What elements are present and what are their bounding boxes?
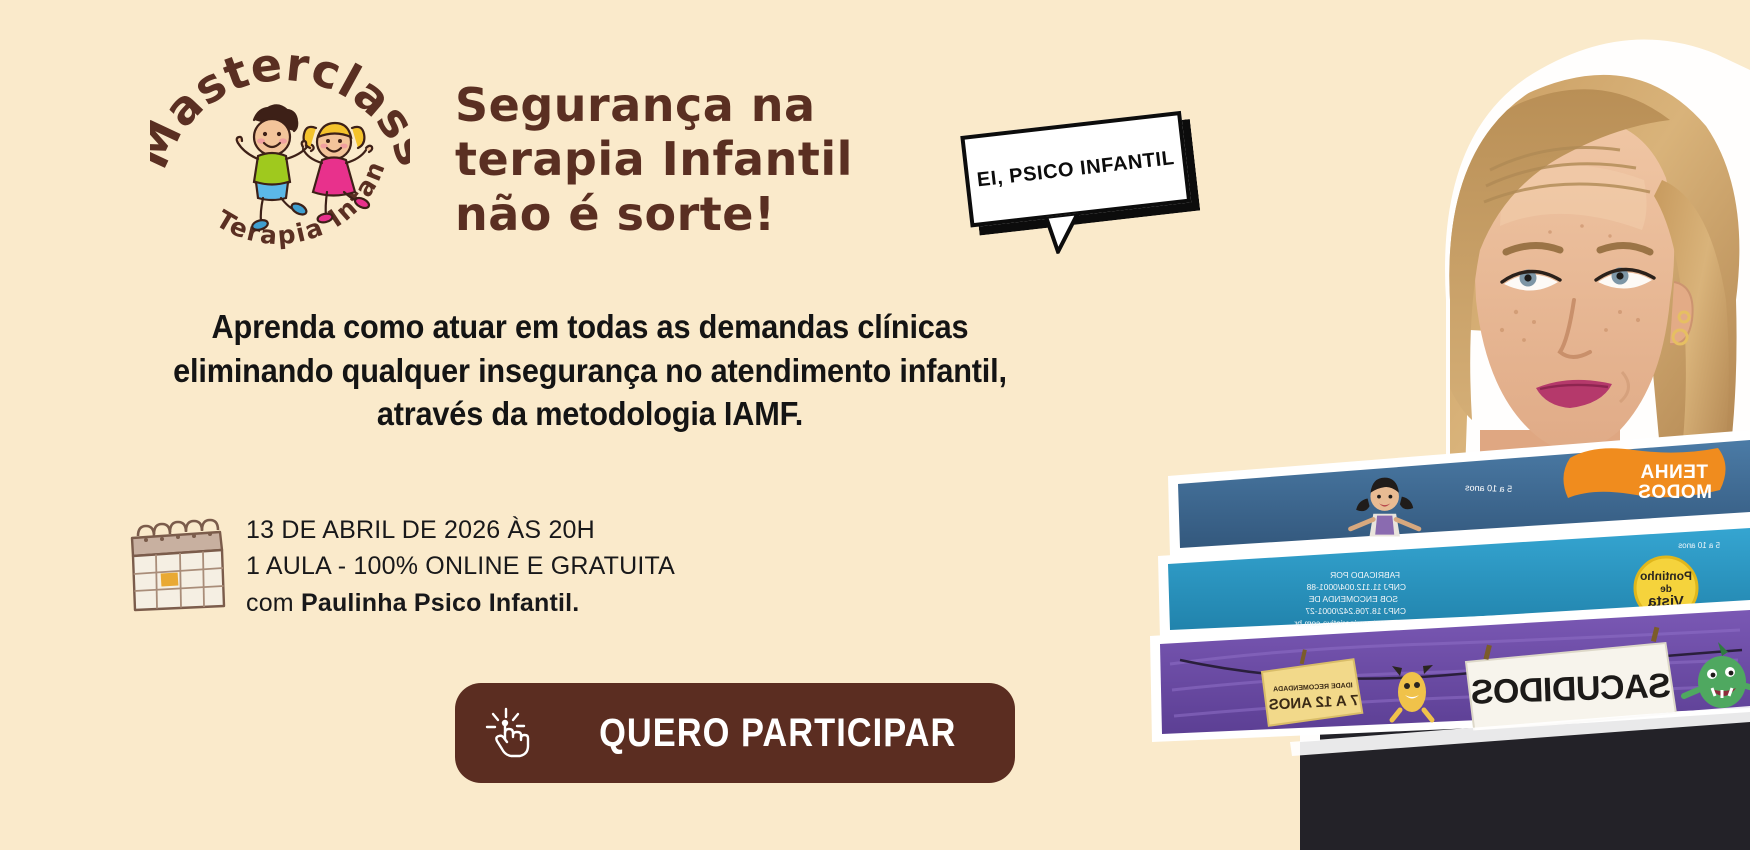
event-format: 1 AULA - 100% ONLINE E GRATUITA bbox=[246, 548, 675, 584]
event-host: com Paulinha Psico Infantil. bbox=[246, 585, 675, 621]
click-hand-icon bbox=[484, 705, 536, 761]
svg-text:CNPJ 11.112.004/0001-88: CNPJ 11.112.004/0001-88 bbox=[1306, 582, 1406, 592]
svg-text:5 a 10 anos: 5 a 10 anos bbox=[1464, 482, 1512, 494]
speech-bubble-text: EI, PSICO INFANTIL bbox=[976, 147, 1176, 192]
svg-text:SACUDIDOS: SACUDIDOS bbox=[1471, 667, 1672, 712]
photo-artwork: TENHA MODOS 5 a 10 anos FABRICADO POR bbox=[1150, 0, 1750, 850]
calendar-icon bbox=[120, 518, 228, 614]
svg-text:Pontinho: Pontinho bbox=[1640, 569, 1692, 583]
quero-participar-button[interactable]: QUERO PARTICIPAR bbox=[455, 683, 1015, 783]
event-host-name: Paulinha Psico Infantil. bbox=[301, 589, 579, 617]
event-details-text: 13 DE ABRIL DE 2026 ÀS 20H 1 AULA - 100%… bbox=[246, 512, 675, 621]
svg-text:SOB ENCOMENDA DE: SOB ENCOMENDA DE bbox=[1308, 594, 1398, 604]
headline-line-2: terapia Infantil bbox=[455, 132, 875, 186]
logo-artwork: Masterclass Terapia Infantil bbox=[150, 42, 410, 257]
event-date: 13 DE ABRIL DE 2026 ÀS 20H bbox=[246, 512, 675, 548]
svg-text:Vista: Vista bbox=[1648, 593, 1684, 610]
svg-text:www.terapiacriativa.com.br: www.terapiacriativa.com.br bbox=[1294, 618, 1397, 628]
cta-label: QUERO PARTICIPAR bbox=[599, 711, 956, 756]
paulinha-psico-infantil-photo: TENHA MODOS 5 a 10 anos FABRICADO POR bbox=[1150, 0, 1750, 850]
speech-bubble-tail bbox=[1044, 213, 1088, 255]
logo-boy bbox=[237, 105, 314, 231]
svg-text:7 A 12 ANOS: 7 A 12 ANOS bbox=[1268, 692, 1359, 714]
headline-line-1: Segurança na bbox=[455, 78, 875, 132]
svg-text:FABRICADO POR: FABRICADO POR bbox=[1330, 570, 1400, 580]
subheadline-line-3: através da metodologia IAMF. bbox=[41, 392, 1138, 436]
svg-text:de: de bbox=[1660, 584, 1672, 595]
svg-text:TENHA: TENHA bbox=[1640, 462, 1708, 483]
event-details: 13 DE ABRIL DE 2026 ÀS 20H 1 AULA - 100%… bbox=[120, 512, 675, 621]
subheadline: Aprenda como atuar em todas as demandas … bbox=[41, 305, 1138, 436]
landing-banner: Masterclass Terapia Infantil bbox=[0, 0, 1750, 850]
svg-text:5 a 10 anos: 5 a 10 anos bbox=[1678, 541, 1720, 550]
headline-line-3: não é sorte! bbox=[455, 187, 875, 241]
svg-text:CNPJ 18.706.242/0001-27: CNPJ 18.706.242/0001-27 bbox=[1305, 606, 1406, 616]
subheadline-line-2: eliminando qualquer insegurança no atend… bbox=[41, 349, 1138, 393]
game-box-stack: TENHA MODOS 5 a 10 anos FABRICADO POR bbox=[1150, 430, 1750, 742]
speech-bubble: EI, PSICO INFANTIL bbox=[960, 109, 1215, 285]
svg-text:IDADE RECOMENDADA: IDADE RECOMENDADA bbox=[1273, 682, 1353, 693]
subheadline-line-1: Aprenda como atuar em todas as demandas … bbox=[41, 305, 1138, 349]
svg-text:MODOS: MODOS bbox=[1638, 482, 1712, 503]
event-host-prefix: com bbox=[246, 589, 301, 617]
page-title: Segurança na terapia Infantil não é sort… bbox=[455, 78, 875, 241]
masterclass-logo: Masterclass Terapia Infantil bbox=[150, 42, 410, 257]
